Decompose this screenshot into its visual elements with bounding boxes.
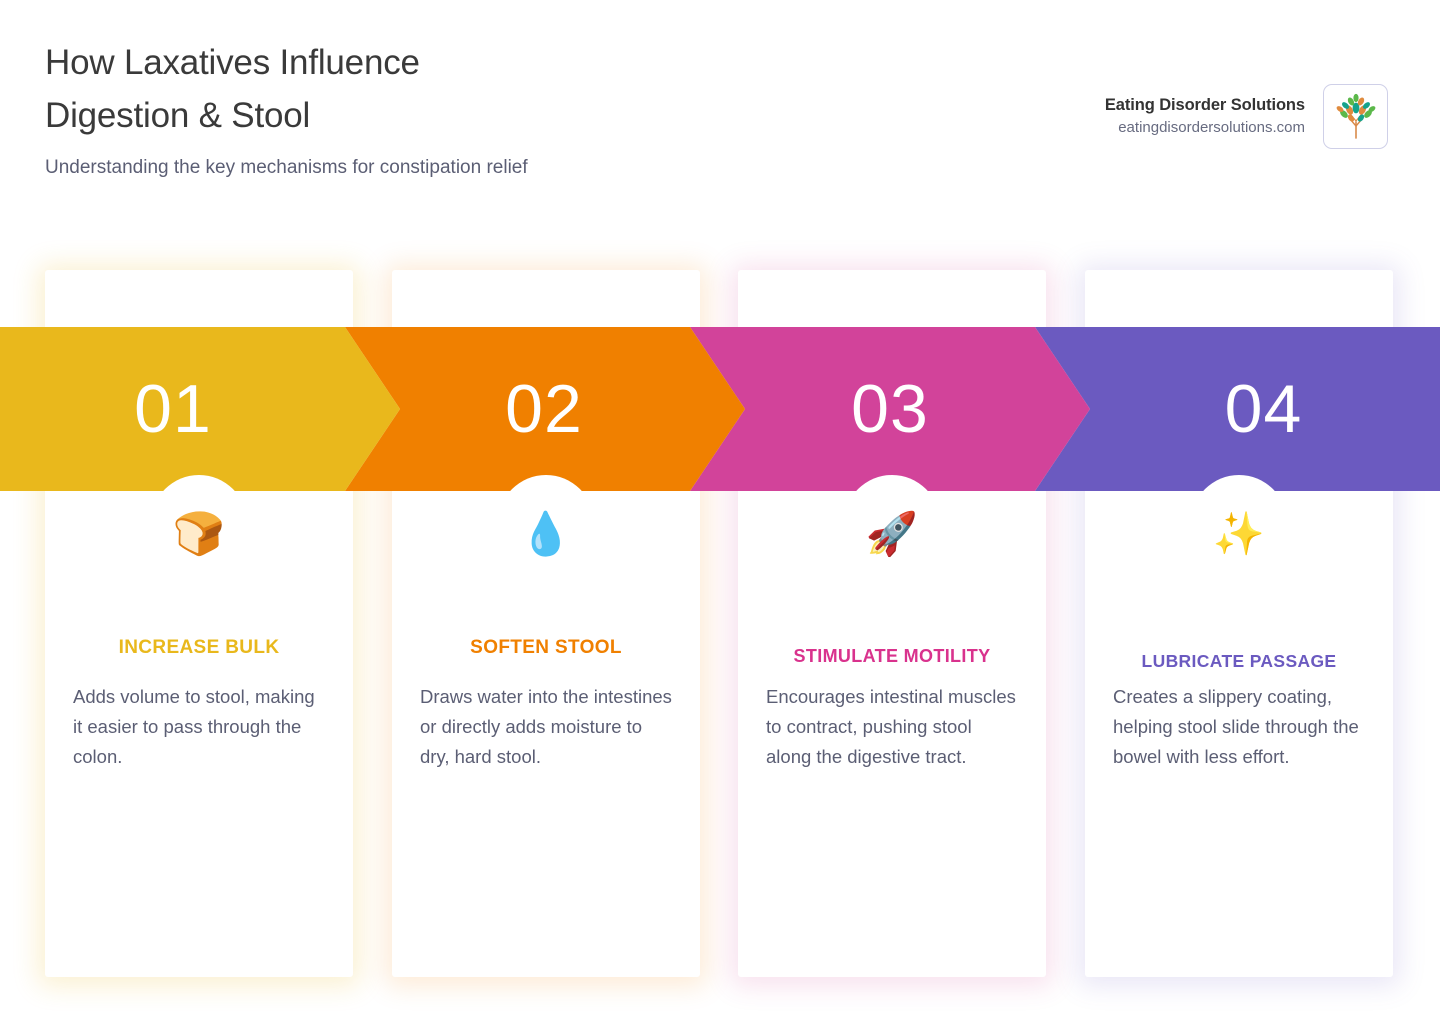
- water-droplet-icon: 💧: [392, 510, 700, 558]
- step-body-4: Creates a slippery coating, helping stoo…: [1113, 682, 1369, 772]
- header: How Laxatives Influence Digestion & Stoo…: [0, 0, 1440, 250]
- step-body-2: Draws water into the intestines or direc…: [420, 682, 676, 772]
- brand-block: Eating Disorder Solutions eatingdisorder…: [1105, 84, 1388, 149]
- step-number-1: 01: [134, 372, 212, 446]
- page-title: How Laxatives Influence Digestion & Stoo…: [45, 36, 805, 181]
- step-number-2: 02: [505, 372, 583, 446]
- chevron-step-4: 04: [1035, 327, 1440, 491]
- step-title-1: INCREASE BULK: [59, 636, 339, 660]
- sparkles-icon: ✨: [1085, 510, 1393, 558]
- page-subtitle: Understanding the key mechanisms for con…: [45, 155, 805, 181]
- chevron-step-3: 03: [690, 327, 1090, 491]
- chevron-step-1: 01: [0, 327, 400, 491]
- tree-logo-icon: [1323, 84, 1388, 149]
- brand-name: Eating Disorder Solutions: [1105, 94, 1305, 116]
- step-title-3: STIMULATE MOTILITY: [752, 644, 1032, 668]
- step-body-3: Encourages intestinal muscles to contrac…: [766, 682, 1022, 772]
- chevron-step-2: 02: [345, 327, 745, 491]
- bread-icon: 🍞: [45, 510, 353, 558]
- page-title-line-1: How Laxatives Influence: [45, 36, 805, 89]
- step-body-1: Adds volume to stool, making it easier t…: [73, 682, 329, 772]
- step-title-4: LUBRICATE PASSAGE: [1099, 649, 1379, 673]
- step-number-3: 03: [851, 372, 929, 446]
- brand-url: eatingdisordersolutions.com: [1105, 117, 1305, 139]
- step-title-2: SOFTEN STOOL: [406, 636, 686, 660]
- chevron-band: 01 02 03 04: [0, 327, 1440, 491]
- brand-text: Eating Disorder Solutions eatingdisorder…: [1105, 94, 1305, 139]
- rocket-icon: 🚀: [738, 510, 1046, 558]
- page-title-line-2: Digestion & Stool: [45, 89, 805, 142]
- step-number-4: 04: [1225, 372, 1303, 446]
